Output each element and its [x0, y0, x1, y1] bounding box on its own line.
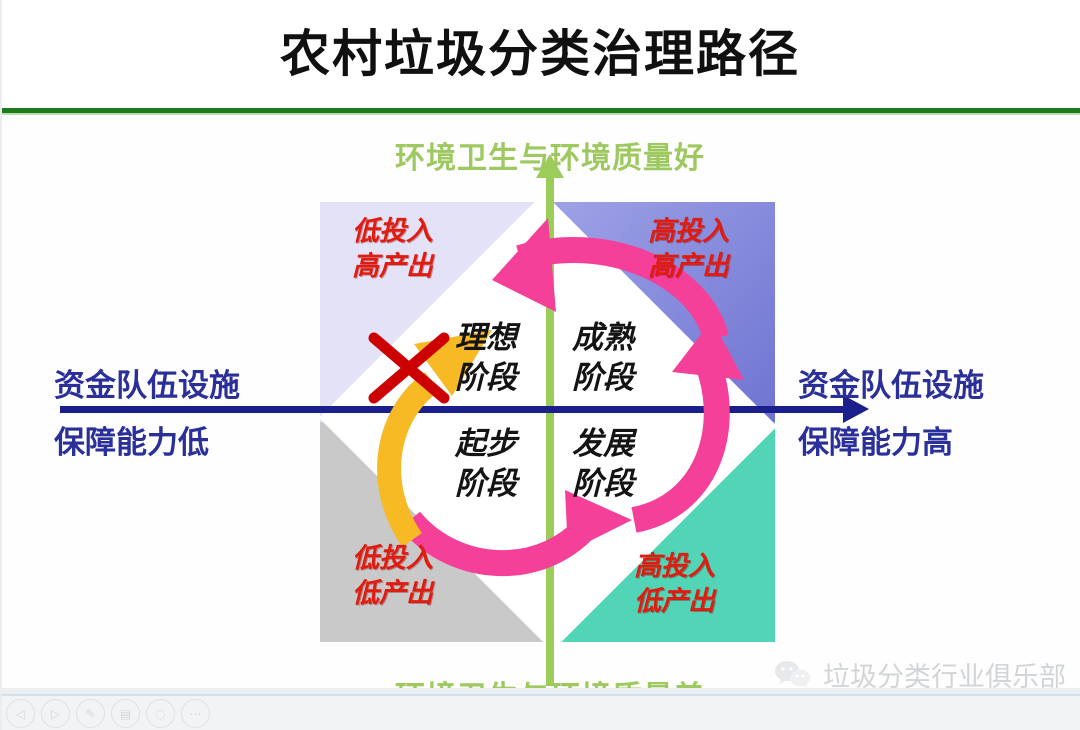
quadrant-label-line2: 低产出 [352, 577, 433, 612]
slide-canvas: 农村垃圾分类治理路径 [0, 0, 1080, 730]
stage-line1: 发展 [572, 424, 634, 464]
quadrant-label-bottom-right: 高投入 低产出 [634, 550, 715, 619]
stage-line2: 阶段 [572, 464, 634, 504]
axis-caption-top: 环境卫生与环境质量好 [330, 133, 770, 177]
zoom-button[interactable]: ◌ [146, 699, 175, 728]
vertical-axis-line [546, 168, 554, 686]
player-toolbar: ◁ ▷ ✎ ▤ ◌ ⋯ [0, 694, 1080, 730]
left-edge-border [0, 0, 2, 730]
page-title: 农村垃圾分类治理路径 [0, 14, 1080, 86]
quadrant-label-top-right: 高投入 高产出 [648, 215, 729, 284]
header-divider-light [0, 113, 1080, 115]
previous-button[interactable]: ◁ [6, 699, 35, 728]
stage-line1: 理想 [455, 318, 517, 358]
stage-label-mature: 成熟 阶段 [572, 318, 634, 399]
axis-caption-left-line1: 资金队伍设施 [54, 358, 240, 415]
more-button[interactable]: ⋯ [181, 699, 210, 728]
axis-caption-right-line2: 保障能力高 [798, 415, 984, 472]
quadrant-label-line1: 低投入 [352, 542, 433, 577]
slide-header: 农村垃圾分类治理路径 [0, 0, 1080, 110]
quadrant-label-line2: 低产出 [634, 585, 715, 620]
quadrant-label-line1: 高投入 [634, 550, 715, 585]
play-button[interactable]: ▷ [41, 699, 70, 728]
axis-caption-right: 资金队伍设施 保障能力高 [798, 358, 984, 473]
quadrant-label-line1: 高投入 [648, 215, 729, 250]
quadrant-label-line2: 高产出 [648, 250, 729, 285]
quadrant-label-top-left: 低投入 高产出 [352, 215, 433, 284]
stage-line2: 阶段 [455, 464, 517, 504]
axis-caption-right-line1: 资金队伍设施 [798, 358, 984, 415]
stage-line2: 阶段 [572, 358, 634, 398]
player-toolbar-divider [0, 688, 1080, 694]
wechat-icon [773, 659, 813, 691]
stage-line1: 起步 [455, 424, 517, 464]
pen-button[interactable]: ✎ [76, 699, 105, 728]
player-button-group: ◁ ▷ ✎ ▤ ◌ ⋯ [6, 699, 210, 728]
quadrant-label-line1: 低投入 [352, 215, 433, 250]
axis-caption-left: 资金队伍设施 保障能力低 [54, 358, 240, 473]
stage-label-starting: 起步 阶段 [455, 424, 517, 505]
slides-button[interactable]: ▤ [111, 699, 140, 728]
stage-line2: 阶段 [455, 358, 517, 398]
quadrant-label-bottom-left: 低投入 低产出 [352, 542, 433, 611]
stage-label-development: 发展 阶段 [572, 424, 634, 505]
stage-line1: 成熟 [572, 318, 634, 358]
axis-caption-left-line2: 保障能力低 [54, 415, 240, 472]
stage-label-ideal: 理想 阶段 [455, 318, 517, 399]
quadrant-label-line2: 高产出 [352, 250, 433, 285]
